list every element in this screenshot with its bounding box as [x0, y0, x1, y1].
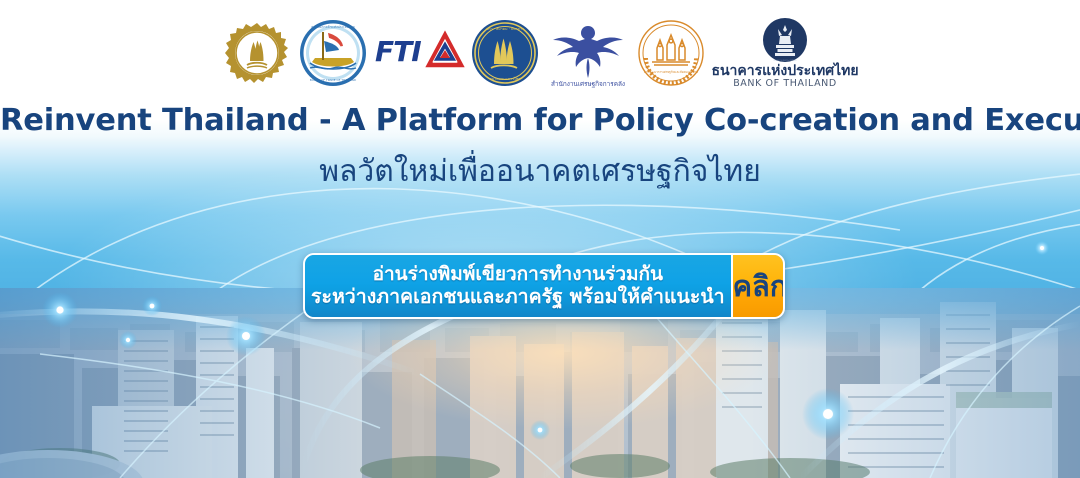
- svg-text:สำนักงานเศรษฐกิจการคลัง: สำนักงานเศรษฐกิจการคลัง: [551, 80, 625, 88]
- fti-logo: FTI: [372, 27, 466, 79]
- ministry-of-industry-logo: [220, 21, 294, 85]
- nesdc-logo: สภาพัฒนาการเศรษฐกิจและสังคมแห่งชาติ: [632, 18, 710, 88]
- bank-of-thailand-caption-en: BANK OF THAILAND: [733, 79, 837, 89]
- reinvent-thailand-banner: สภาหอการค้าแห่งประเทศไทย BOARD OF TRADE …: [0, 0, 1080, 478]
- board-of-trade-of-thailand-logo: สภาหอการค้าแห่งประเทศไทย BOARD OF TRADE …: [294, 18, 372, 88]
- banner-subtitle: พลวัตใหม่เพื่ออนาคตเศรษฐกิจไทย: [0, 148, 1080, 195]
- bank-of-thailand-logo: ธนาคารแห่งประเทศไทย ธนาคารแห่งประเทศไทย …: [710, 17, 860, 90]
- svg-text:สภา · สมาคม · ธนาคาร: สภา · สมาคม · ธนาคาร: [486, 27, 524, 31]
- cta-banner[interactable]: อ่านร่างพิมพ์เขียวการทำงานร่วมกัน ระหว่า…: [303, 253, 785, 319]
- cta-message[interactable]: อ่านร่างพิมพ์เขียวการทำงานร่วมกัน ระหว่า…: [305, 255, 731, 317]
- svg-text:สมาคมธนาคารไทย: สมาคมธนาคารไทย: [490, 76, 521, 81]
- partner-logo-row: สภาหอการค้าแห่งประเทศไทย BOARD OF TRADE …: [0, 14, 1080, 92]
- cta-line-2: ระหว่างภาคเอกชนและภาครัฐ พร้อมให้คำแนะนำ: [311, 286, 725, 309]
- svg-text:สภาพัฒนาการเศรษฐกิจและสังคมแห่: สภาพัฒนาการเศรษฐกิจและสังคมแห่งชาติ: [644, 70, 699, 74]
- click-button[interactable]: คลิก: [731, 255, 785, 317]
- svg-text:BOARD OF TRADE OF THAILAND: BOARD OF TRADE OF THAILAND: [310, 78, 357, 82]
- svg-text:ธนาคารแห่งประเทศไทย: ธนาคารแห่งประเทศไทย: [774, 58, 798, 62]
- thai-bankers-association-logo: สภา · สมาคม · ธนาคาร สมาคมธนาคารไทย: [466, 18, 544, 88]
- svg-text:สภาหอการค้าแห่งประเทศไทย: สภาหอการค้าแห่งประเทศไทย: [311, 25, 355, 29]
- bank-of-thailand-emblem: ธนาคารแห่งประเทศไทย: [762, 17, 808, 63]
- cta-line-1: อ่านร่างพิมพ์เขียวการทำงานร่วมกัน: [373, 263, 663, 285]
- banner-title: Reinvent Thailand - A Platform for Polic…: [0, 103, 1080, 138]
- click-button-label: คลิก: [733, 272, 785, 301]
- bank-of-thailand-caption-th: ธนาคารแห่งประเทศไทย: [711, 64, 858, 79]
- svg-text:FTI: FTI: [375, 35, 421, 68]
- fiscal-policy-office-logo: สำนักงานเศรษฐกิจการคลัง: [544, 18, 632, 88]
